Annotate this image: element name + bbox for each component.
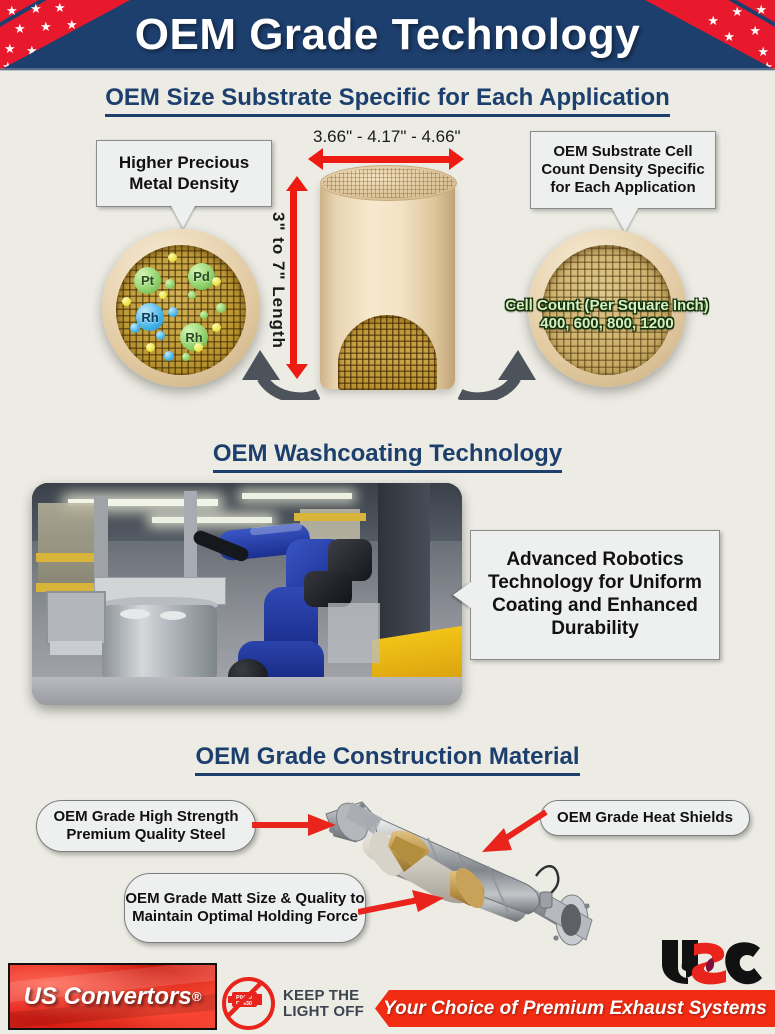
particle-dot [156, 331, 165, 340]
header-underline [0, 68, 775, 71]
photo-tank-port [160, 611, 186, 620]
particle-dot [212, 277, 221, 286]
arrow-to-heat-shields [478, 808, 548, 856]
particle-pd: Pd [188, 263, 215, 290]
particle-label: Pt [141, 273, 154, 288]
section-title-construction: OEM Grade Construction Material [0, 743, 775, 771]
section-title-substrate: OEM Size Substrate Specific for Each App… [0, 84, 775, 112]
particle-dot [194, 343, 203, 352]
registered-mark: ® [192, 989, 202, 1004]
keep-light-off-text: KEEP THE LIGHT OFF [283, 988, 364, 1019]
photo-ceiling-light [242, 493, 352, 499]
particle-dot [159, 291, 167, 299]
infographic-page: ★ ★ ★ ★ ★ ★ ★ ★ ★ ★ ★ ★ ★ ★ ★ ★ ★ ★ OEM … [0, 0, 775, 1034]
callout-advanced-robotics: Advanced Robotics Technology for Uniform… [470, 530, 720, 660]
tagline-text: Your Choice of Premium Exhaust Systems [383, 998, 767, 1020]
keep-line-1: KEEP THE [283, 988, 364, 1003]
callout-text: OEM Substrate Cell Count Density Specifi… [537, 143, 709, 197]
callout-heat-shields: OEM Grade Heat Shields [540, 800, 750, 836]
cell-count-title: Cell Count (Per Square Inch) [492, 297, 722, 315]
curved-arrow-left [240, 322, 320, 400]
robotics-photo [32, 483, 462, 705]
section-title-washcoating: OEM Washcoating Technology [0, 440, 775, 468]
substrate-cylinder-illustration [320, 165, 455, 400]
callout-text: OEM Grade Heat Shields [557, 809, 733, 827]
callout-text: Advanced Robotics Technology for Uniform… [479, 549, 711, 640]
callout-text: OEM Grade High Strength Premium Quality … [37, 808, 255, 845]
photo-control-panel [46, 591, 106, 645]
callout-text: OEM Grade Matt Size & Quality to Maintai… [125, 890, 365, 927]
photo-yellow-rail [294, 513, 366, 521]
precious-metal-disc: Pt Pd Rh Rh [102, 229, 260, 387]
page-header: ★ ★ ★ ★ ★ ★ ★ ★ ★ ★ ★ ★ ★ ★ ★ ★ ★ ★ OEM … [0, 0, 775, 70]
particle-dot [188, 291, 196, 299]
precious-metal-mesh: Pt Pd Rh Rh [116, 245, 246, 375]
particle-dot [200, 311, 208, 319]
arrow-to-steel [252, 812, 337, 838]
particle-label: Rh [141, 310, 158, 325]
particle-pt: Pt [134, 267, 161, 294]
particle-dot [168, 307, 178, 317]
us-convertors-logo-box: US Convertors® [8, 963, 217, 1030]
arrow-head-up [286, 176, 308, 191]
cylinder-top-face [320, 165, 457, 201]
arrow-to-matt [358, 890, 446, 920]
photo-pallet-rack [38, 503, 98, 583]
particle-dot [182, 353, 190, 361]
section-title-washcoating-text: OEM Washcoating Technology [213, 440, 562, 473]
callout-cell-count-density: OEM Substrate Cell Count Density Specifi… [530, 131, 716, 209]
section-title-substrate-text: OEM Size Substrate Specific for Each App… [105, 84, 670, 117]
particle-dot [146, 343, 155, 352]
callout-text: Higher Precious Metal Density [97, 153, 271, 194]
photo-panel-base [50, 641, 102, 655]
photo-conveyor [328, 603, 380, 663]
particle-dot [165, 279, 175, 289]
robot-gripper [304, 571, 352, 607]
brand-name: US Convertors® [10, 965, 215, 1028]
particle-label: Pd [193, 269, 210, 284]
brand-text: US Convertors [24, 983, 192, 1011]
particle-dot [212, 323, 221, 332]
photo-yellow-rail [36, 553, 102, 562]
no-symbol-icon: P0420 P0430 [222, 977, 275, 1030]
particle-dot [168, 253, 177, 262]
page-title: OEM Grade Technology [0, 0, 775, 70]
keep-the-light-off-badge: P0420 P0430 KEEP THE LIGHT OFF [222, 977, 364, 1030]
callout-tail [453, 582, 471, 608]
cylinder-cutaway [338, 315, 437, 390]
particle-rh-blue: Rh [136, 303, 164, 331]
callout-high-strength-steel: OEM Grade High Strength Premium Quality … [36, 800, 256, 852]
keep-line-2: LIGHT OFF [283, 1004, 364, 1019]
photo-floor [32, 677, 462, 705]
callout-tail [612, 208, 638, 232]
photo-tank-port [120, 609, 150, 619]
particle-dot [164, 351, 174, 361]
particle-label: Rh [185, 330, 202, 345]
diameter-label: 3.66" - 4.17" - 4.66" [313, 127, 461, 147]
particle-dot [216, 303, 226, 313]
usc-logo [660, 938, 764, 986]
cylinder-top-mesh [323, 168, 454, 198]
particle-dot [122, 297, 131, 306]
engine-code-icon: P0420 P0430 [222, 977, 267, 1022]
section-title-construction-text: OEM Grade Construction Material [195, 743, 579, 776]
diameter-arrow-line [322, 156, 450, 163]
cylinder-cutaway-mesh [338, 315, 437, 390]
callout-higher-precious-metal-density: Higher Precious Metal Density [96, 140, 272, 207]
callout-tail [170, 204, 196, 228]
curved-arrow-right [458, 322, 538, 400]
particle-dot [130, 323, 140, 333]
tagline-banner: Your Choice of Premium Exhaust Systems [375, 990, 775, 1027]
callout-matt-size-quality: OEM Grade Matt Size & Quality to Maintai… [124, 873, 366, 943]
photo-ceiling-light [152, 517, 272, 523]
